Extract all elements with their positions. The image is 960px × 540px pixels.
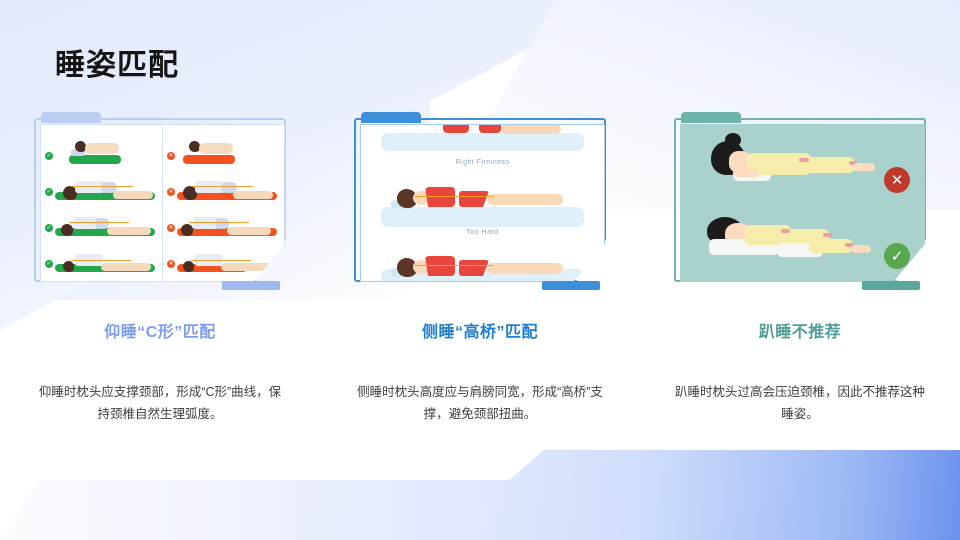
- card-prone: ✕ ✓ 趴睡不推荐 趴睡时枕头过高会压迫颈椎，因此不推荐这种睡姿。: [640, 112, 960, 426]
- illustration-frame-supine: ✓ ✓: [34, 112, 286, 284]
- firmness-label-top-wrap: Right Firmness: [361, 159, 604, 171]
- pose-row: ✓: [45, 242, 158, 272]
- firmness-label: Too Hard: [361, 229, 604, 236]
- firmness-label: Right Firmness: [361, 159, 604, 166]
- grid-column-incorrect: ✕ ✕: [163, 125, 284, 281]
- card-body-text: 侧睡时枕头高度应与肩膀同宽，形成“高桥”支撑，避免颈部扭曲。: [354, 382, 606, 426]
- firmness-panel-top: [361, 125, 604, 159]
- pose-row: ✕: [167, 170, 280, 200]
- card-heading: 仰睡“C形”匹配: [104, 318, 216, 342]
- frame-accent-bar: [222, 281, 280, 290]
- firmness-panel-middle: [361, 171, 604, 227]
- check-icon: ✓: [45, 188, 53, 196]
- pose-row: ✕: [167, 206, 280, 236]
- frame-inner-border: ✓ ✓: [40, 124, 285, 282]
- firmness-illustration: Right Firmness Too Hard: [361, 125, 604, 281]
- card-body-text: 趴睡时枕头过高会压迫颈椎，因此不推荐这种睡姿。: [674, 382, 926, 426]
- frame-inner-border: Right Firmness Too Hard: [360, 124, 605, 282]
- background-bottom-diagonal-band: [440, 450, 960, 540]
- check-icon: ✓: [884, 243, 910, 269]
- illustration-frame-side: Right Firmness Too Hard: [354, 112, 606, 284]
- grid-column-correct: ✓ ✓: [41, 125, 163, 281]
- firmness-panel-bottom: [361, 241, 604, 281]
- cross-icon: ✕: [884, 167, 910, 193]
- cross-icon: ✕: [167, 224, 175, 232]
- pose-row: ✓: [45, 206, 158, 236]
- check-icon: ✓: [45, 152, 53, 160]
- pose-row: ✕: [167, 134, 280, 164]
- frame-inner-border: ✕ ✓: [680, 124, 925, 282]
- pose-row: ✓: [45, 170, 158, 200]
- card-columns: ✓ ✓: [0, 112, 960, 426]
- card-heading: 侧睡“高桥”匹配: [422, 318, 538, 342]
- pose-row: ✕: [167, 242, 280, 272]
- check-icon: ✓: [45, 260, 53, 268]
- card-supine: ✓ ✓: [0, 112, 320, 426]
- cross-icon: ✕: [167, 152, 175, 160]
- comparison-grid: ✓ ✓: [41, 125, 284, 281]
- page-title: 睡姿匹配: [55, 40, 179, 84]
- frame-accent-bar: [862, 281, 920, 290]
- cross-icon: ✕: [167, 260, 175, 268]
- check-icon: ✓: [45, 224, 53, 232]
- card-side: Right Firmness Too Hard: [320, 112, 640, 426]
- card-body-text: 仰睡时枕头应支撑颈部，形成“C形”曲线，保持颈椎自然生理弧度。: [34, 382, 286, 426]
- illustration-frame-prone: ✕ ✓: [674, 112, 926, 284]
- card-heading: 趴睡不推荐: [759, 318, 842, 342]
- frame-accent-bar: [542, 281, 600, 290]
- pose-row: ✓: [45, 134, 158, 164]
- prone-vs-side-illustration: ✕ ✓: [681, 125, 924, 281]
- cross-icon: ✕: [167, 188, 175, 196]
- firmness-label-bottom-wrap: Too Hard: [361, 227, 604, 241]
